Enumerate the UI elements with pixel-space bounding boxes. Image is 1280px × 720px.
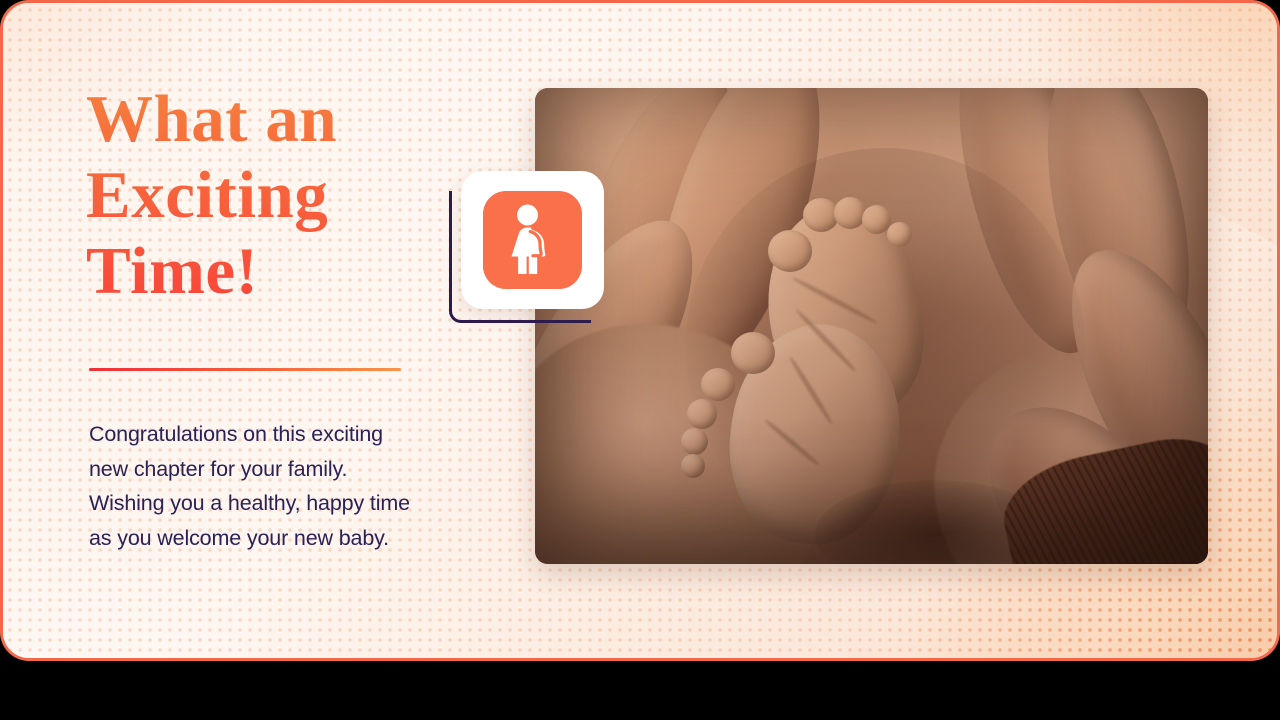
pregnant-woman-icon (483, 191, 582, 289)
slide-canvas: What an Exciting Time! Congratulations o… (3, 3, 1277, 658)
icon-badge-card (461, 171, 604, 309)
text-column: What an Exciting Time! (86, 81, 476, 309)
hero-photo (535, 88, 1208, 564)
photo-vignette (535, 88, 1208, 564)
hands-cradling-baby-feet-image (535, 88, 1208, 564)
page-title: What an Exciting Time! (86, 81, 476, 309)
title-divider (89, 368, 401, 371)
body-paragraph: Congratulations on this exciting new cha… (89, 417, 489, 555)
